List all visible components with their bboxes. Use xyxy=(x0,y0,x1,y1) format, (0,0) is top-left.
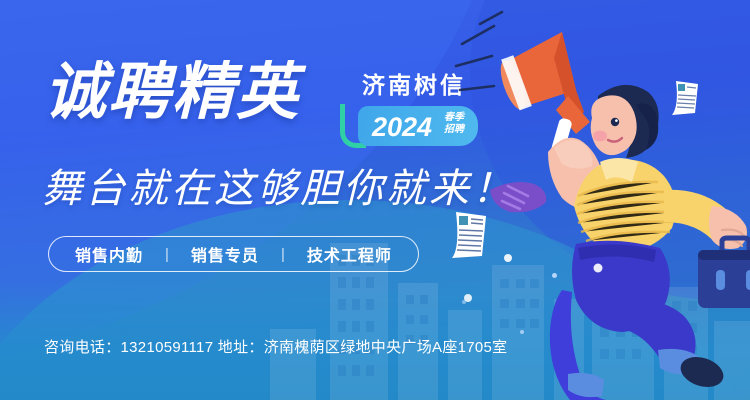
decorative-dot xyxy=(594,264,603,273)
job-tag-2: 技术工程师 xyxy=(307,242,392,266)
decorative-dot xyxy=(504,254,512,262)
job-tag-separator: | xyxy=(259,246,307,263)
page-subtitle: 舞台就在这够胆你就来！ xyxy=(42,156,515,214)
head xyxy=(591,85,659,158)
decorative-dot xyxy=(464,294,472,302)
running-man-illustration xyxy=(450,0,750,400)
job-tag-separator: | xyxy=(143,246,191,263)
job-tags-pill: 销售内勤 | 销售专员 | 技术工程师 xyxy=(48,236,419,272)
page-title: 诚聘精英 xyxy=(44,62,300,124)
purple-shoe-icon xyxy=(490,182,546,212)
sound-lines-icon xyxy=(456,12,502,90)
contact-info: 咨询电话：13210591117 地址：济南槐荫区绿地中央广场A座1705室 xyxy=(44,336,507,357)
briefcase-icon xyxy=(698,238,750,308)
job-tag-1: 销售专员 xyxy=(191,242,259,266)
job-tag-0: 销售内勤 xyxy=(75,242,143,266)
recruitment-banner: 诚聘精英 济南树信 2024 春季 招聘 舞台就在这够胆你就来！ 销售内勤 | … xyxy=(0,0,750,400)
badge-year: 2024 xyxy=(372,112,432,143)
